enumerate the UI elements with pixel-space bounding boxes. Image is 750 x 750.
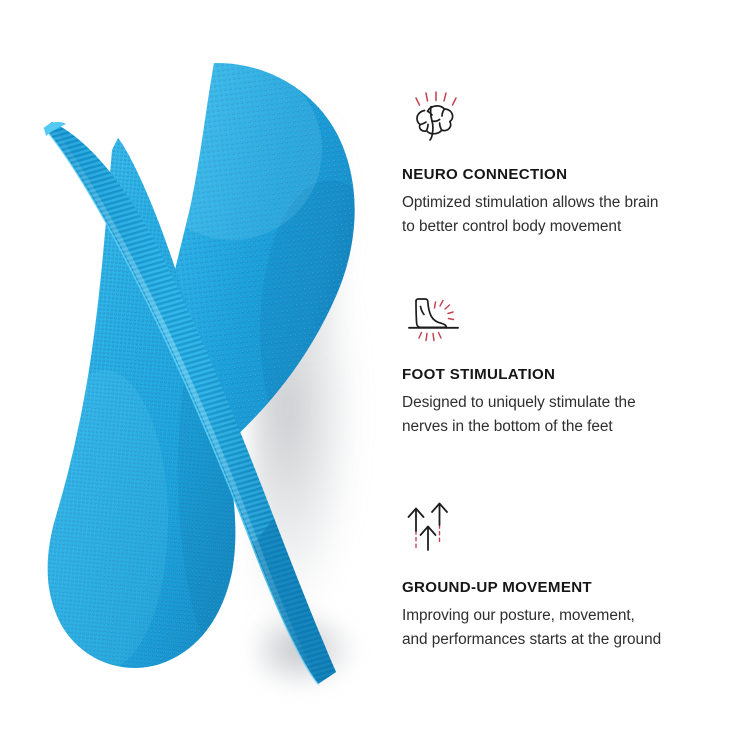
feature-description: Designed to uniquely stimulate the nerve… — [402, 391, 722, 439]
feature-description-line: Designed to uniquely stimulate the — [402, 391, 722, 415]
feature-description-line: to better control body movement — [402, 215, 722, 239]
feature-description-line: Improving our posture, movement, — [402, 604, 722, 628]
upward-arrows-icon — [404, 500, 466, 558]
feature-description-line: and performances starts at the ground — [402, 628, 722, 652]
product-image-stage — [0, 0, 390, 750]
foot-on-ground-icon — [404, 289, 466, 347]
feature-title: FOOT STIMULATION — [402, 366, 722, 384]
feature-description: Improving our posture, movement, and per… — [402, 604, 722, 652]
product-feature-panel: NEURO CONNECTION Optimized stimulation a… — [0, 0, 750, 750]
feature-title: NEURO CONNECTION — [402, 166, 722, 184]
feature-item-ground-up-movement: GROUND-UP MOVEMENT Improving our posture… — [402, 500, 722, 652]
feature-item-foot-stimulation: FOOT STIMULATION Designed to uniquely st… — [402, 289, 722, 439]
feature-description-line: Optimized stimulation allows the brain — [402, 191, 722, 215]
feature-title: GROUND-UP MOVEMENT — [402, 579, 722, 597]
insole-illustration — [0, 0, 390, 750]
brain-icon — [404, 88, 466, 146]
feature-description: Optimized stimulation allows the brain t… — [402, 191, 722, 239]
feature-description-line: nerves in the bottom of the feet — [402, 415, 722, 439]
feature-item-neuro-connection: NEURO CONNECTION Optimized stimulation a… — [402, 88, 722, 239]
feature-list: NEURO CONNECTION Optimized stimulation a… — [402, 0, 732, 750]
